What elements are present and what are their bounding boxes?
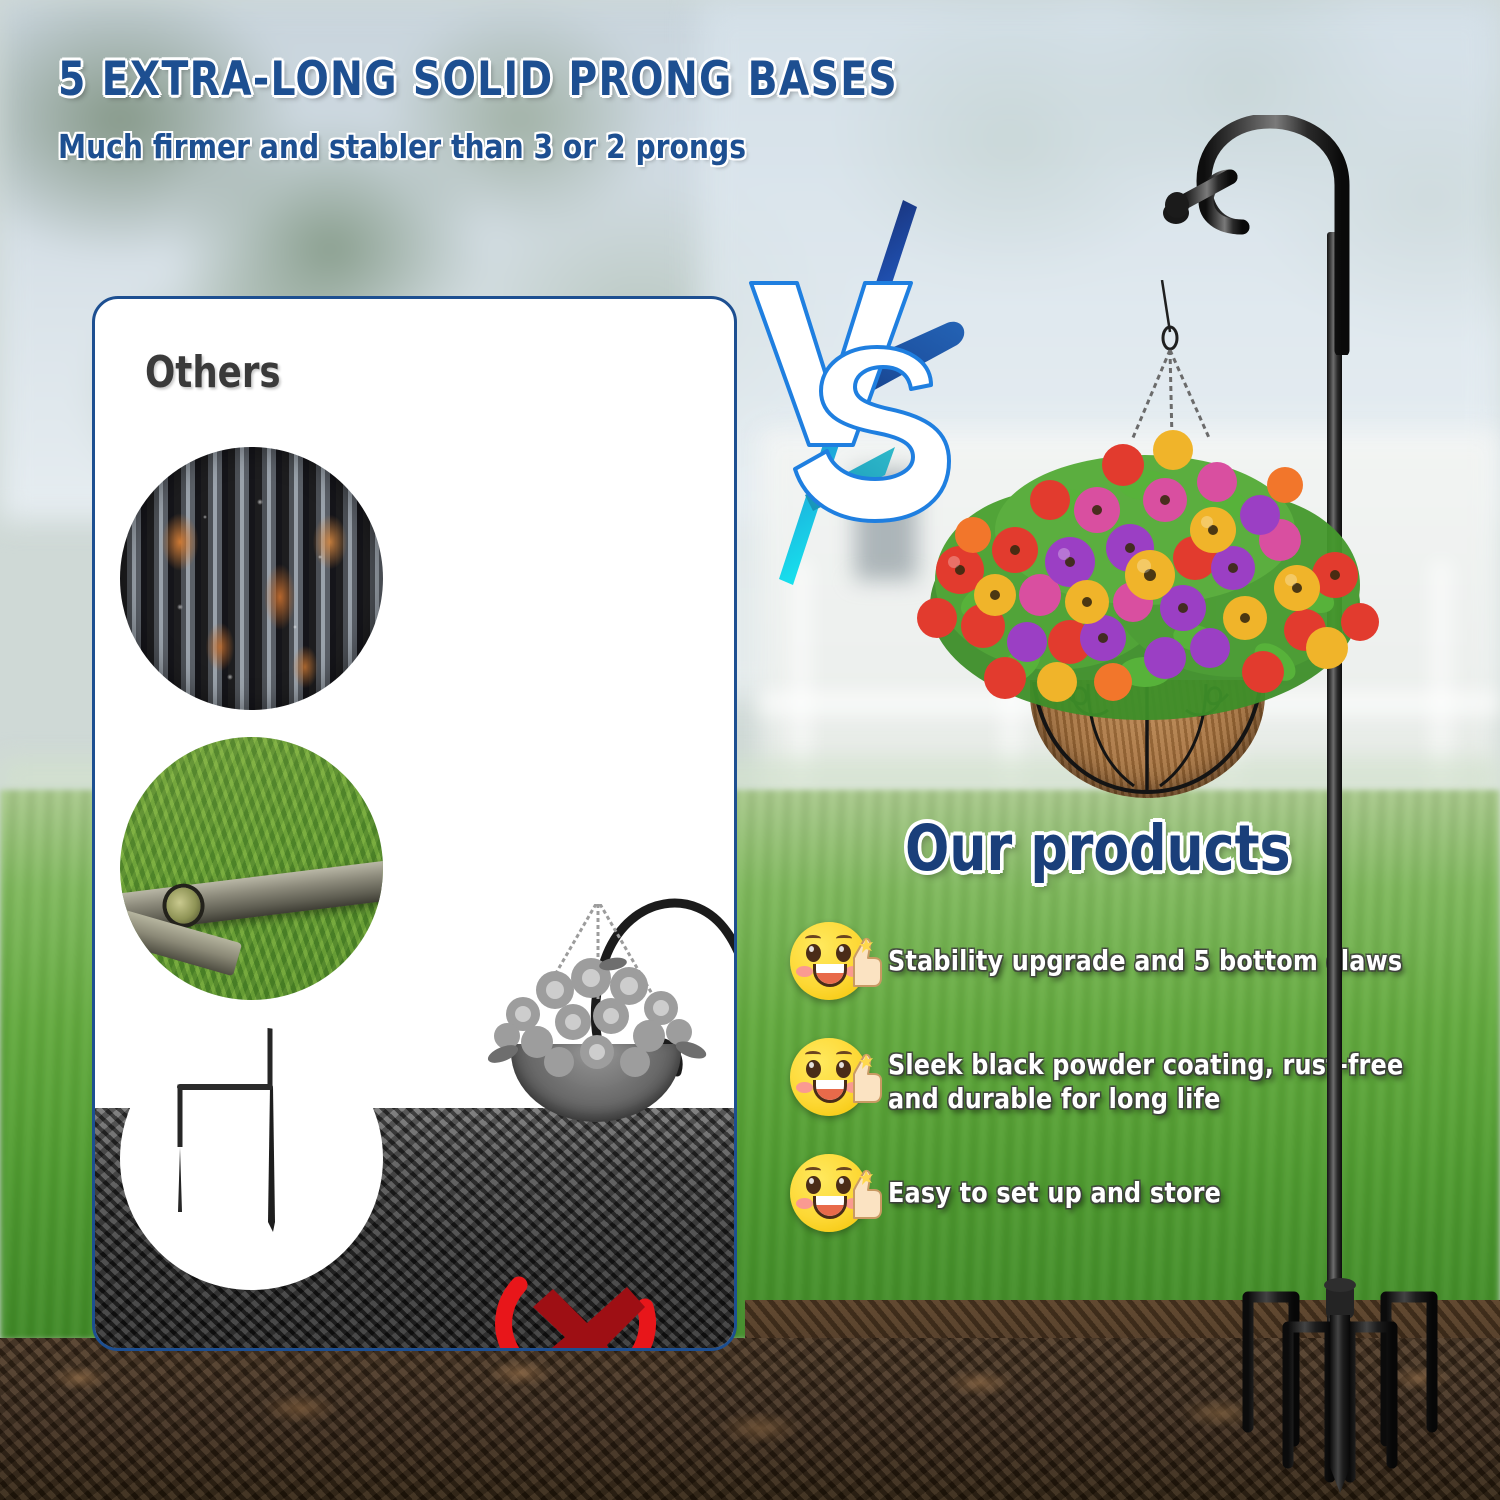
cheek-left xyxy=(796,966,813,977)
five-prong-claw-base xyxy=(1190,1255,1490,1500)
benefits-list: Stability upgrade and 5 bottom claws Sle… xyxy=(790,928,1450,1276)
others-comparison-panel: Others xyxy=(92,296,737,1351)
smiley-thumbs-up-icon xyxy=(790,1038,888,1126)
bent-broken-pole-photo xyxy=(120,737,383,1000)
eye-left xyxy=(806,1176,821,1194)
headline-block: 5 EXTRA-LONG SOLID PRONG BASES Much firm… xyxy=(58,52,1058,166)
benefit-item: Stability upgrade and 5 bottom claws xyxy=(790,928,1450,1010)
eyebrow-left xyxy=(805,1167,821,1174)
house-post-1 xyxy=(790,560,812,790)
house-post-4 xyxy=(1430,560,1452,790)
two-prong-stake-photo xyxy=(120,1027,383,1290)
eye-left xyxy=(806,944,821,962)
others-gray-flower-basket xyxy=(463,904,737,1119)
smiling-mouth xyxy=(813,1080,847,1103)
benefit-item: Easy to set up and store xyxy=(790,1160,1450,1242)
eye-left xyxy=(806,1060,821,1078)
thumbs-up-icon xyxy=(848,1168,884,1222)
others-label: Others xyxy=(145,347,281,398)
eyebrow-left xyxy=(805,1051,821,1058)
page-title: 5 EXTRA-LONG SOLID PRONG BASES xyxy=(58,52,988,107)
benefit-text: Stability upgrade and 5 bottom claws xyxy=(888,928,1402,978)
rusty-poles-photo xyxy=(120,447,383,710)
page-subtitle: Much firmer and stabler than 3 or 2 pron… xyxy=(58,127,1008,166)
red-x-reject-icon xyxy=(495,1249,675,1351)
two-prong-stake-drawing xyxy=(120,1027,383,1290)
benefit-item: Sleek black powder coating, rust-free an… xyxy=(790,1044,1450,1126)
smiley-thumbs-up-icon xyxy=(790,922,888,1010)
our-products-label: Our products xyxy=(905,812,1291,885)
cheek-left xyxy=(796,1082,813,1093)
cheek-left xyxy=(796,1198,813,1209)
smiling-mouth xyxy=(813,1196,847,1219)
thumbs-up-icon xyxy=(848,1052,884,1106)
hanging-flower-basket-flowers xyxy=(865,390,1425,790)
thumbs-up-icon xyxy=(848,936,884,990)
smiley-thumbs-up-icon xyxy=(790,1154,888,1242)
benefit-text: Easy to set up and store xyxy=(888,1160,1221,1210)
smiling-mouth xyxy=(813,964,847,987)
others-basket-flowers xyxy=(463,904,737,1119)
eyebrow-left xyxy=(805,935,821,942)
